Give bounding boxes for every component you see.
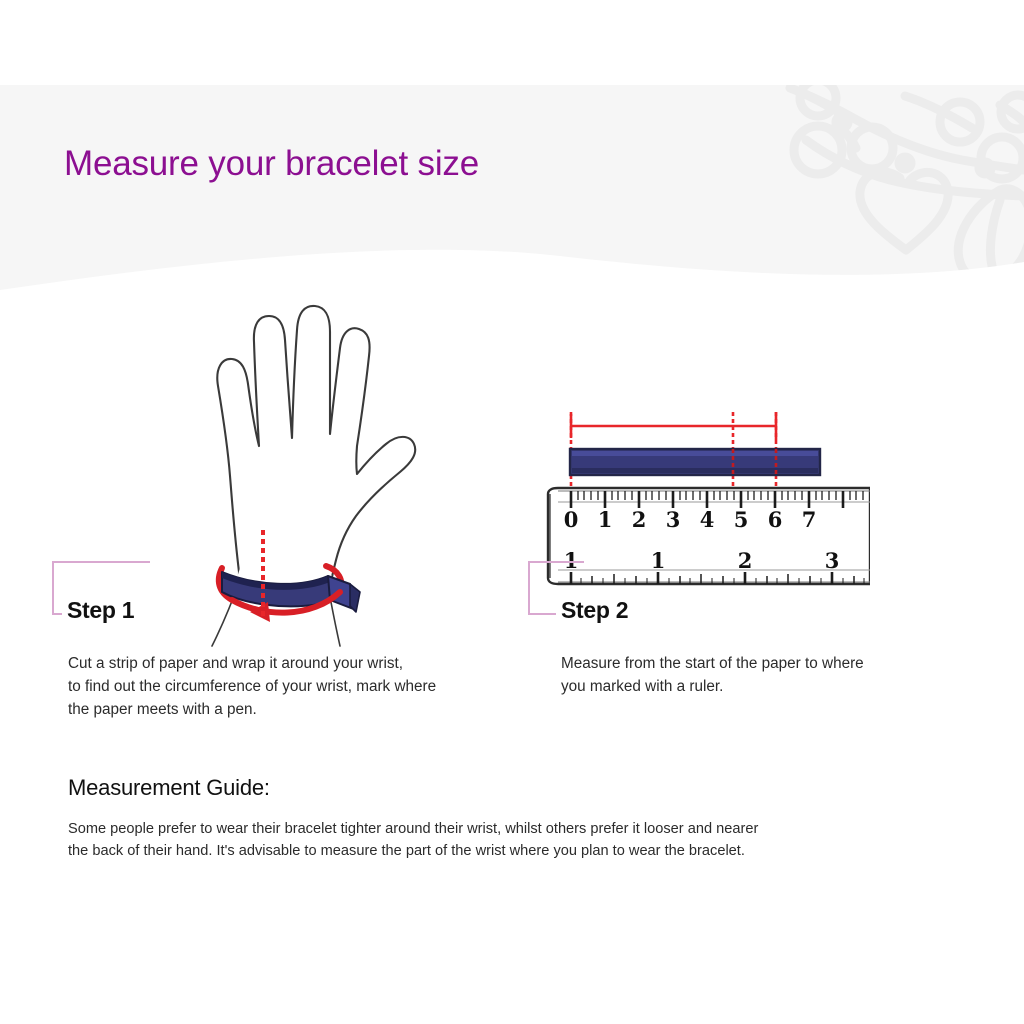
page-title: Measure your bracelet size [64, 144, 479, 184]
step-1-description: Cut a strip of paper and wrap it around … [68, 652, 548, 721]
svg-text:4: 4 [700, 507, 715, 532]
measurement-guide-title: Measurement Guide: [68, 775, 270, 801]
svg-text:6: 6 [768, 507, 783, 532]
svg-text:3: 3 [825, 548, 840, 573]
svg-text:1: 1 [598, 507, 613, 532]
svg-text:7: 7 [802, 507, 817, 532]
svg-text:3: 3 [666, 507, 681, 532]
step-2-description: Measure from the start of the paper to w… [561, 652, 981, 698]
svg-text:1: 1 [651, 548, 666, 573]
step-1-label: Step 1 [67, 597, 134, 624]
svg-text:0: 0 [564, 507, 579, 532]
size-guide-page: Measure your bracelet size [0, 0, 1024, 1024]
svg-text:2: 2 [632, 507, 647, 532]
measurement-guide-body: Some people prefer to wear their bracele… [68, 818, 983, 862]
charm-bracelet-watermark [790, 80, 1024, 281]
measurement-bracket [571, 412, 776, 440]
svg-text:5: 5 [734, 507, 749, 532]
wrap-arrow-head [250, 602, 270, 622]
svg-text:2: 2 [738, 548, 753, 573]
paper-strip-measured [570, 449, 820, 475]
hand-illustration [160, 280, 430, 650]
step-2-label: Step 2 [561, 597, 628, 624]
hand-outline [217, 306, 415, 588]
header-band-shape [0, 85, 1024, 290]
